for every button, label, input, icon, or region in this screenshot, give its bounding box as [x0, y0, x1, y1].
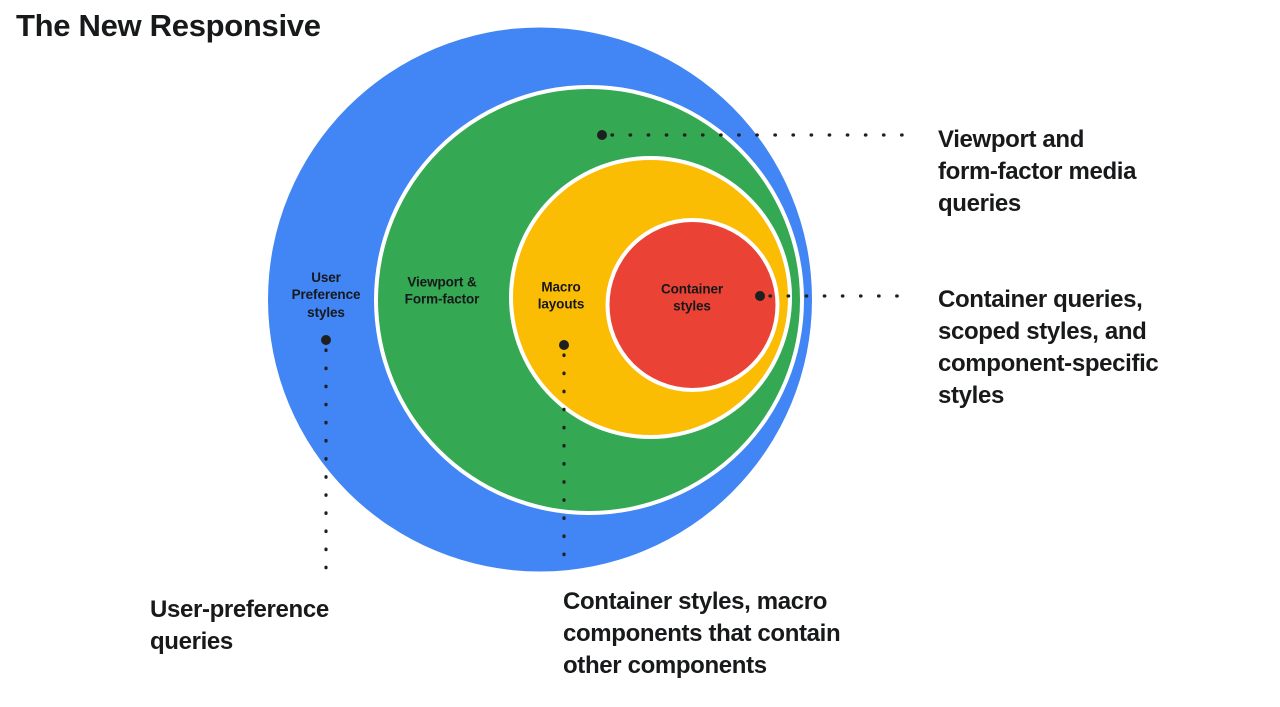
- connector-dot-container: [755, 291, 765, 301]
- ring-label-viewport-form-factor: Viewport & Form-factor: [377, 274, 507, 309]
- callout-user-preference: User-preference queries: [150, 594, 450, 658]
- connector-dot-macro: [559, 340, 569, 350]
- ring-label-container-styles: Container styles: [637, 281, 747, 316]
- callout-macro-layouts: Container styles, macro components that …: [563, 586, 1003, 682]
- connector-dot-user-preference: [321, 335, 331, 345]
- callout-viewport-form-factor: Viewport and form-factor media queries: [938, 124, 1268, 220]
- connector-dot-viewport: [597, 130, 607, 140]
- slide-canvas: The New Responsive User Preference style…: [0, 0, 1280, 707]
- ring-label-user-preference: User Preference styles: [271, 269, 381, 321]
- callout-container-styles: Container queries, scoped styles, and co…: [938, 284, 1276, 412]
- ring-label-macro-layouts: Macro layouts: [516, 279, 606, 314]
